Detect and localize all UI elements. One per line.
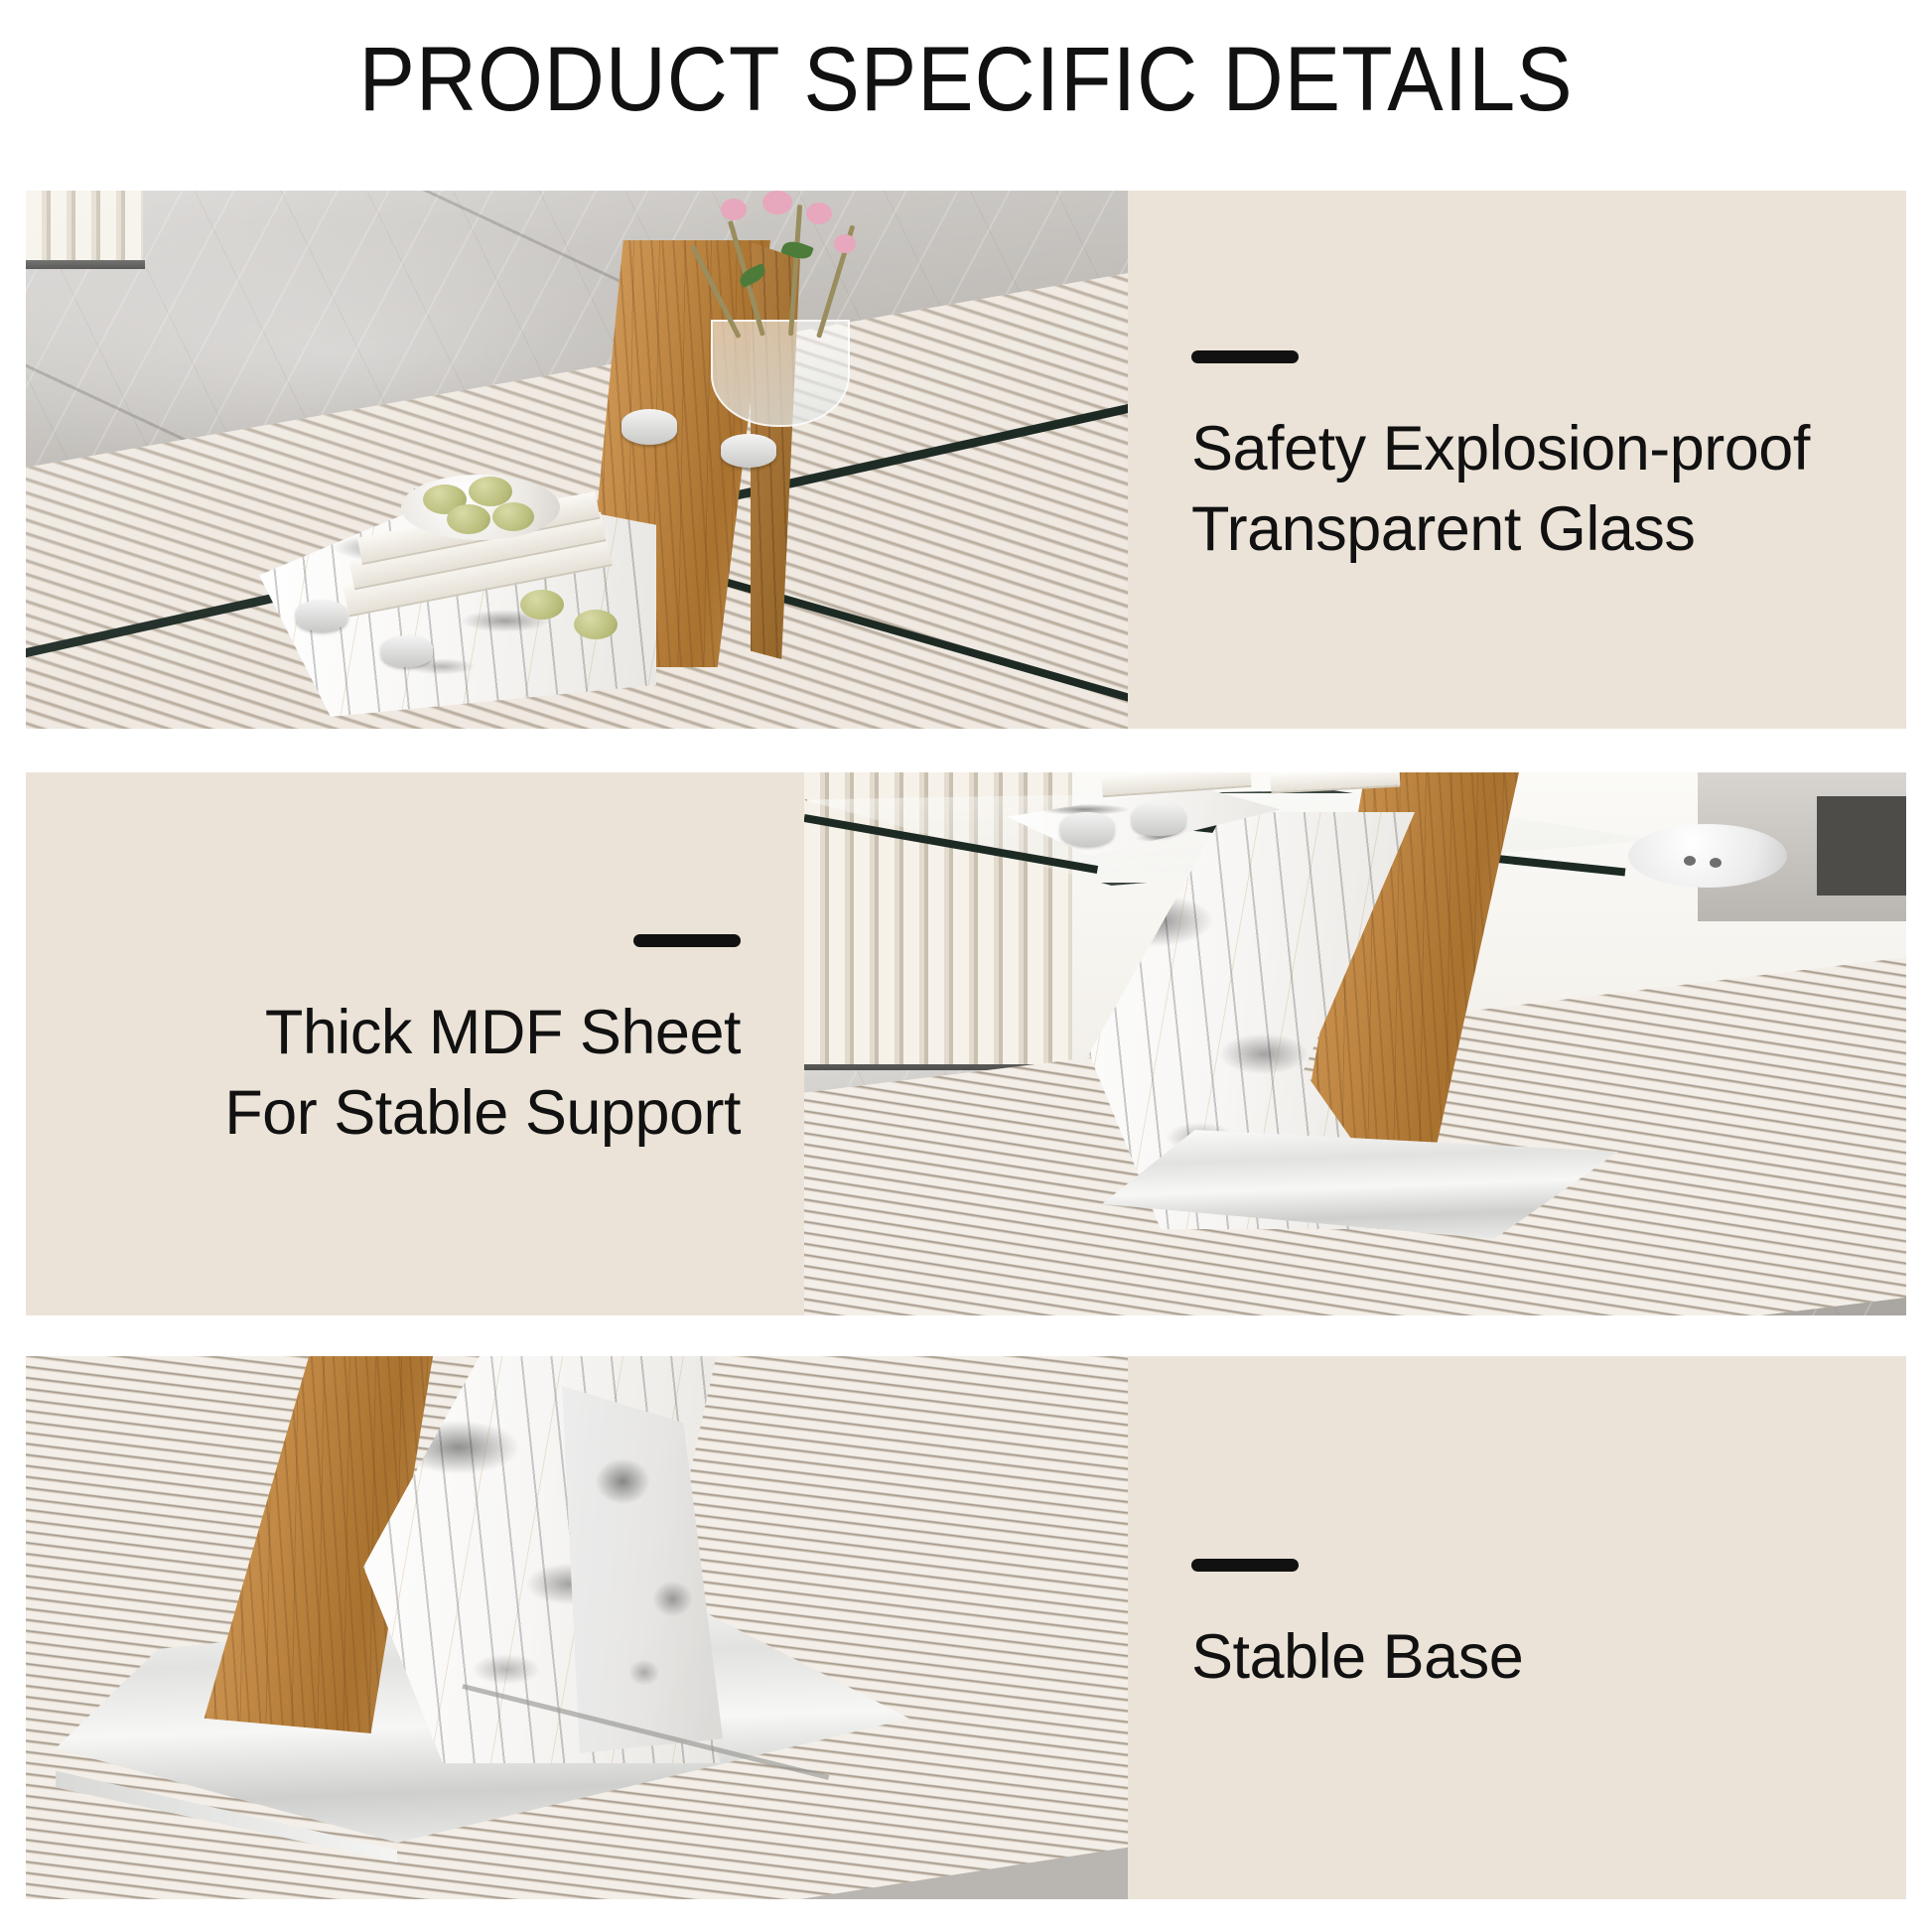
caption-rule-1 (1191, 350, 1299, 363)
panel-2-photo (804, 772, 1906, 1315)
glass-fastener-knob-2 (721, 434, 776, 468)
panel-3-caption: Stable Base (1128, 1356, 1906, 1899)
robot-vacuum-sensor-1 (1684, 856, 1696, 866)
detail-panel-safety-glass: Safety Explosion-proof Transparent Glass (26, 191, 1906, 729)
robot-vacuum (1628, 824, 1787, 888)
robot-vacuum-sensor-2 (1710, 858, 1722, 868)
detail-panel-mdf-sheet: Thick MDF Sheet For Stable Support (26, 772, 1906, 1315)
flower-blossom-4 (834, 234, 856, 253)
flower-blossom-2 (762, 191, 792, 214)
glass-fastener-knob-1 (1060, 812, 1114, 846)
glass-fastener-knob-4 (381, 635, 433, 667)
panel-2-caption: Thick MDF Sheet For Stable Support (26, 772, 804, 1315)
caption-rule-3 (1191, 1559, 1299, 1572)
flower-blossom-3 (806, 203, 832, 224)
macaron-loose-2 (574, 610, 618, 639)
glass-fastener-knob-2 (1132, 802, 1185, 836)
macaron-3 (447, 504, 490, 534)
macaron-2 (469, 477, 512, 506)
glass-fastener-knob-3 (296, 600, 347, 631)
page-title: PRODUCT SPECIFIC DETAILS (77, 34, 1855, 125)
caption-line-2b: For Stable Support (224, 1073, 741, 1154)
dark-alcove (1817, 796, 1906, 896)
macaron-loose-1 (520, 590, 564, 620)
glass-vase (711, 320, 850, 427)
panel-1-photo (26, 191, 1128, 729)
panel-3-photo (26, 1356, 1128, 1899)
panel-1-caption: Safety Explosion-proof Transparent Glass (1128, 191, 1906, 729)
detail-panel-stable-base: Stable Base (26, 1356, 1906, 1899)
macaron-4 (492, 502, 534, 531)
caption-line-3a: Stable Base (1191, 1617, 1523, 1698)
caption-line-2a: Thick MDF Sheet (265, 993, 741, 1073)
caption-line-1b: Transparent Glass (1191, 489, 1695, 570)
caption-line-1a: Safety Explosion-proof (1191, 409, 1810, 489)
flower-blossom-1 (721, 199, 747, 220)
caption-rule-2 (633, 934, 741, 947)
product-details-page: PRODUCT SPECIFIC DETAILS (0, 0, 1932, 1932)
glass-fastener-knob-1 (621, 409, 677, 445)
